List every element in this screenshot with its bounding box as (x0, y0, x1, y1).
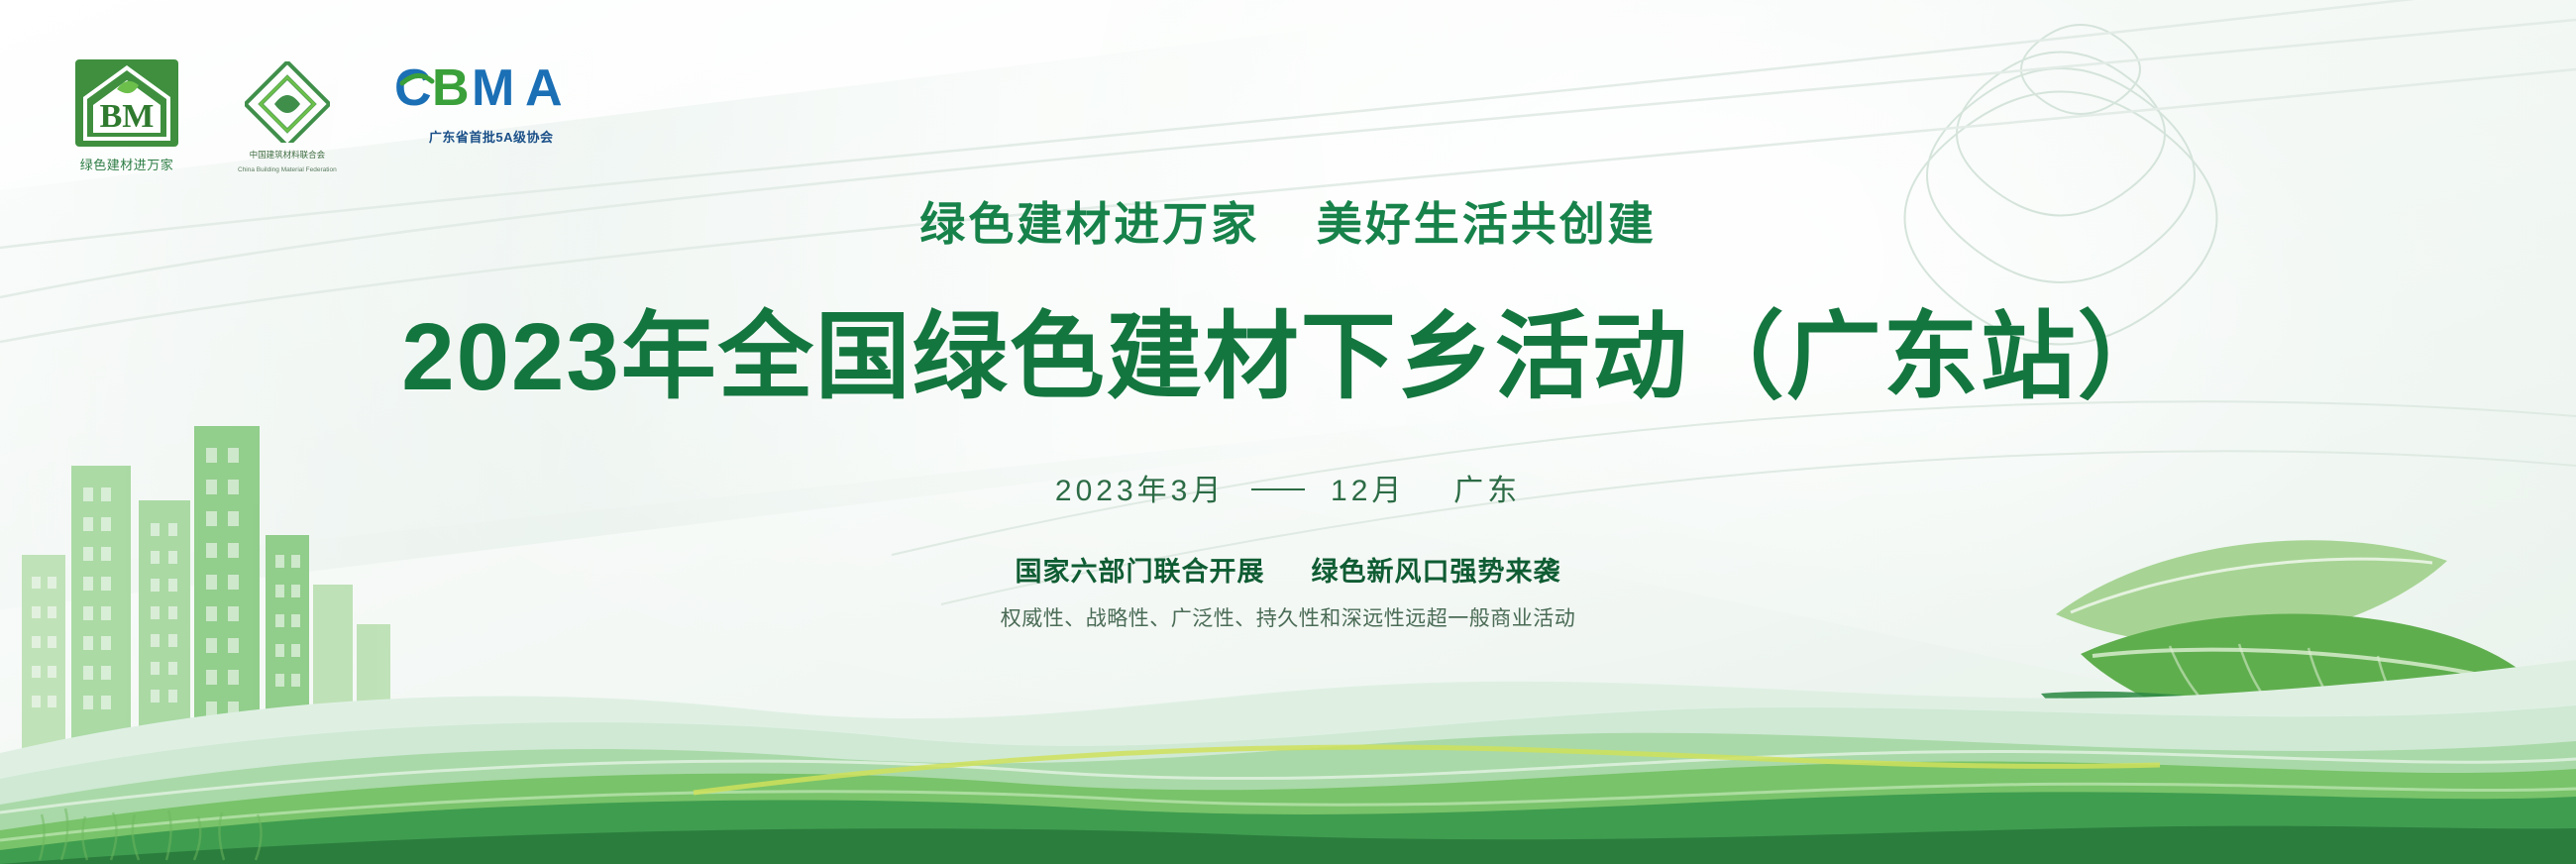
sub-slogan: 绿色建材进万家 美好生活共创建 (0, 188, 2576, 254)
event-banner: BM 绿色建材进万家 中国建筑材料联合会 China Building Mate… (0, 0, 2576, 864)
svg-text:A: A (525, 59, 564, 117)
svg-text:C: C (394, 59, 433, 117)
sub-slogan-left: 绿色建材进万家 (919, 198, 1259, 250)
logo-cbmf: 中国建筑材料联合会 China Building Material Federa… (238, 57, 337, 173)
logo-cbma: C B M A 广东省首批5A级协会 (394, 57, 589, 146)
logo-caption: 广东省首批5A级协会 (429, 127, 554, 146)
date-end: 12月 (1331, 475, 1405, 507)
kicker-line: 国家六部门联合开展 绿色新风口强势来袭 (0, 550, 2576, 589)
logo-caption: 绿色建材进万家 (80, 155, 174, 173)
logo-green-building-materials: BM 绿色建材进万家 (73, 57, 180, 173)
logo-caption: 中国建筑材料联合会 (250, 149, 326, 161)
event-region: 广东 (1453, 475, 1521, 507)
page-title: 2023年全国绿色建材下乡活动（广东站） (0, 279, 2576, 417)
svg-text:B: B (432, 59, 471, 117)
svg-text:BM: BM (100, 98, 155, 135)
kicker-right: 绿色新风口强势来袭 (1312, 557, 1561, 587)
svg-text:M: M (472, 59, 515, 117)
kicker-left: 国家六部门联合开展 (1015, 557, 1264, 587)
logo-row: BM 绿色建材进万家 中国建筑材料联合会 China Building Mate… (73, 57, 589, 173)
date-dash (1251, 488, 1305, 490)
cbma-wordmark-icon: C B M A (394, 59, 589, 121)
diamond-mark-icon (245, 61, 330, 143)
sub-slogan-right: 美好生活共创建 (1317, 198, 1657, 250)
date-start: 2023年3月 (1055, 475, 1225, 507)
fineprint: 权威性、战略性、广泛性、持久性和深远性远超一般商业活动 (0, 602, 2576, 632)
house-mark-icon: BM (73, 57, 180, 149)
logo-caption-en: China Building Material Federation (238, 166, 337, 173)
event-date-line: 2023年3月 12月 广东 (0, 466, 2576, 509)
